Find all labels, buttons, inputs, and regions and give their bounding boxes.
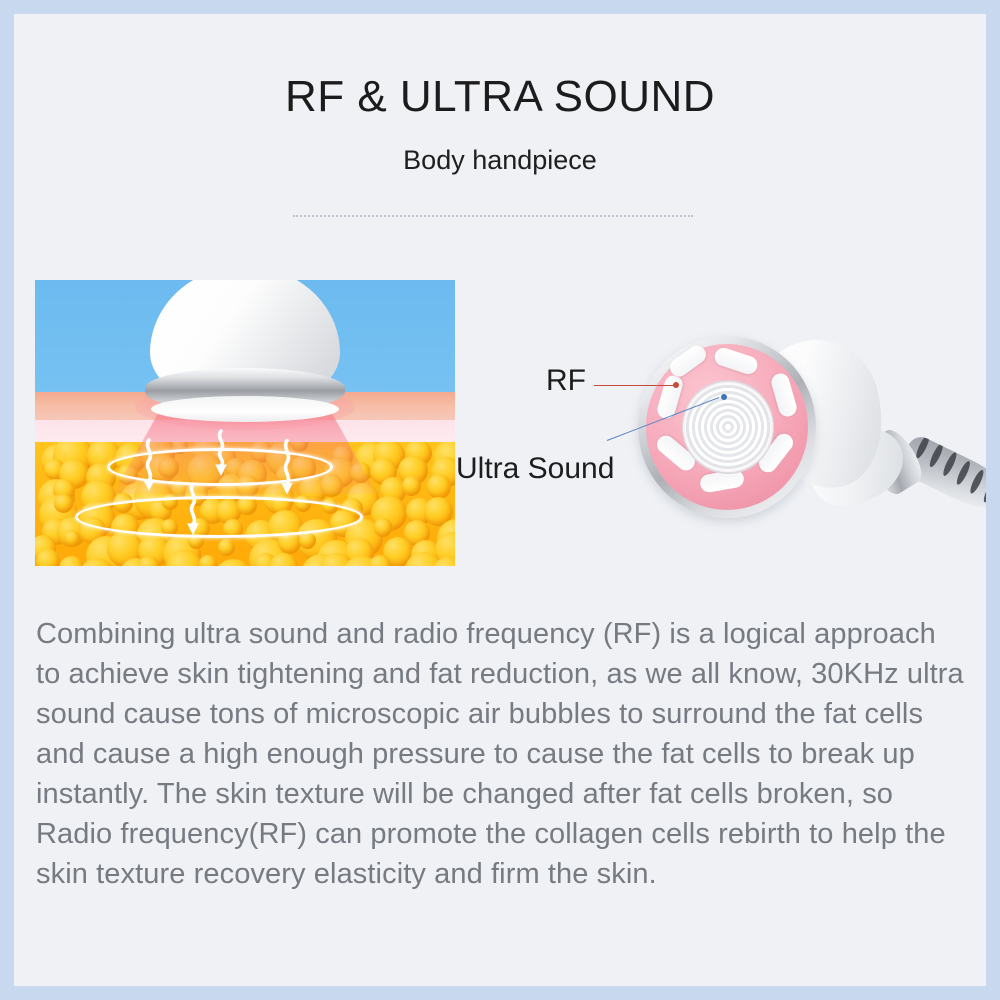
header-divider bbox=[293, 215, 693, 217]
wave-arrow-1 bbox=[141, 428, 157, 506]
skin-cross-section-illustration bbox=[35, 280, 455, 566]
rf-leader-dot bbox=[673, 382, 679, 388]
fat-cell bbox=[215, 559, 252, 566]
page-title: RF & ULTRA SOUND bbox=[14, 72, 986, 122]
rf-leader-line bbox=[594, 385, 676, 386]
wave-arrow-3 bbox=[279, 428, 295, 510]
description-paragraph: Combining ultra sound and radio frequenc… bbox=[36, 614, 964, 894]
rf-callout-label: RF bbox=[546, 364, 586, 398]
infographic-page: RF & ULTRA SOUND Body handpiece bbox=[0, 0, 1000, 1000]
fat-cell bbox=[374, 518, 393, 537]
handpiece-product-image: RF Ultra Sound bbox=[604, 314, 986, 594]
device-head-lip-icon bbox=[151, 396, 339, 422]
wave-arrow-4 bbox=[185, 472, 201, 550]
fat-cell bbox=[36, 549, 60, 566]
content-panel: RF & ULTRA SOUND Body handpiece bbox=[14, 14, 986, 986]
fat-cell bbox=[218, 539, 235, 556]
ultrasound-callout-label: Ultra Sound bbox=[456, 452, 614, 486]
fat-cell bbox=[64, 530, 81, 547]
fat-cell bbox=[199, 555, 217, 566]
page-subtitle: Body handpiece bbox=[14, 145, 986, 176]
energy-ring-lower bbox=[75, 496, 363, 538]
fat-cell bbox=[427, 474, 451, 498]
ultrasound-leader-dot bbox=[721, 394, 727, 400]
wave-arrow-2 bbox=[213, 420, 229, 490]
fat-cell bbox=[59, 556, 84, 566]
fat-cell bbox=[402, 476, 422, 496]
ultrasound-spiral-icon bbox=[682, 380, 774, 474]
